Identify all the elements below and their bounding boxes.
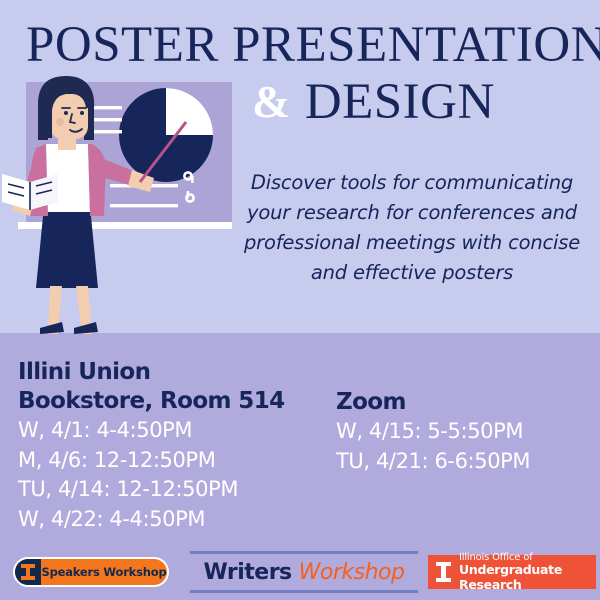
figure-hair-side	[38, 100, 52, 138]
presenter-illustration	[0, 70, 232, 335]
session-item: W, 4/1: 4-4:50PM	[18, 416, 285, 446]
poster-canvas: POSTER PRESENTATION &DESIGN Discover too…	[0, 0, 600, 600]
page-title-design-word: DESIGN	[305, 74, 495, 130]
logo-writers-word-2: Workshop	[292, 560, 405, 585]
figure-skirt	[36, 206, 98, 288]
figure-face	[50, 94, 88, 140]
page-title-line-2: &DESIGN	[252, 74, 495, 130]
logo-writers-word-1: Writers	[204, 560, 292, 585]
venue-title-line-2: Bookstore, Room 514	[18, 387, 285, 416]
logo-undergraduate-research-text: Illinois Office of Undergraduate Researc…	[458, 552, 596, 592]
illinois-block-i-icon	[428, 555, 458, 589]
session-item: W, 4/15: 5-5:50PM	[336, 417, 530, 447]
session-item: W, 4/22: 4-4:50PM	[18, 505, 285, 535]
logo-speakers-workshop-label: Speakers Workshop	[41, 565, 167, 579]
page-title-line-1: POSTER PRESENTATION	[26, 18, 586, 72]
logo-speakers-workshop-pill: Speakers Workshop	[15, 559, 167, 585]
logo-our-line-2: Undergraduate Research	[459, 563, 596, 592]
schedule-column-in-person: Illini Union Bookstore, Room 514 W, 4/1:…	[18, 358, 285, 534]
event-description: Discover tools for communicating your re…	[228, 168, 596, 288]
logo-undergraduate-research[interactable]: Illinois Office of Undergraduate Researc…	[428, 555, 596, 589]
session-item: TU, 4/21: 6-6:50PM	[336, 447, 530, 477]
illinois-block-i-icon	[15, 559, 41, 585]
board-line-5	[110, 204, 178, 207]
figure-cheek	[56, 118, 64, 126]
schedule-column-zoom: Zoom W, 4/15: 5-5:50PM TU, 4/21: 6-6:50P…	[336, 388, 530, 476]
logo-speakers-workshop[interactable]: Speakers Workshop	[13, 557, 169, 587]
ampersand-glyph: &	[252, 76, 305, 127]
logo-writers-workshop[interactable]: Writers Workshop	[190, 551, 418, 593]
session-item: M, 4/6: 12-12:50PM	[18, 446, 285, 476]
venue-title-line-1: Illini Union	[18, 358, 285, 387]
venue-title-zoom: Zoom	[336, 388, 530, 417]
session-item: TU, 4/14: 12-12:50PM	[18, 475, 285, 505]
